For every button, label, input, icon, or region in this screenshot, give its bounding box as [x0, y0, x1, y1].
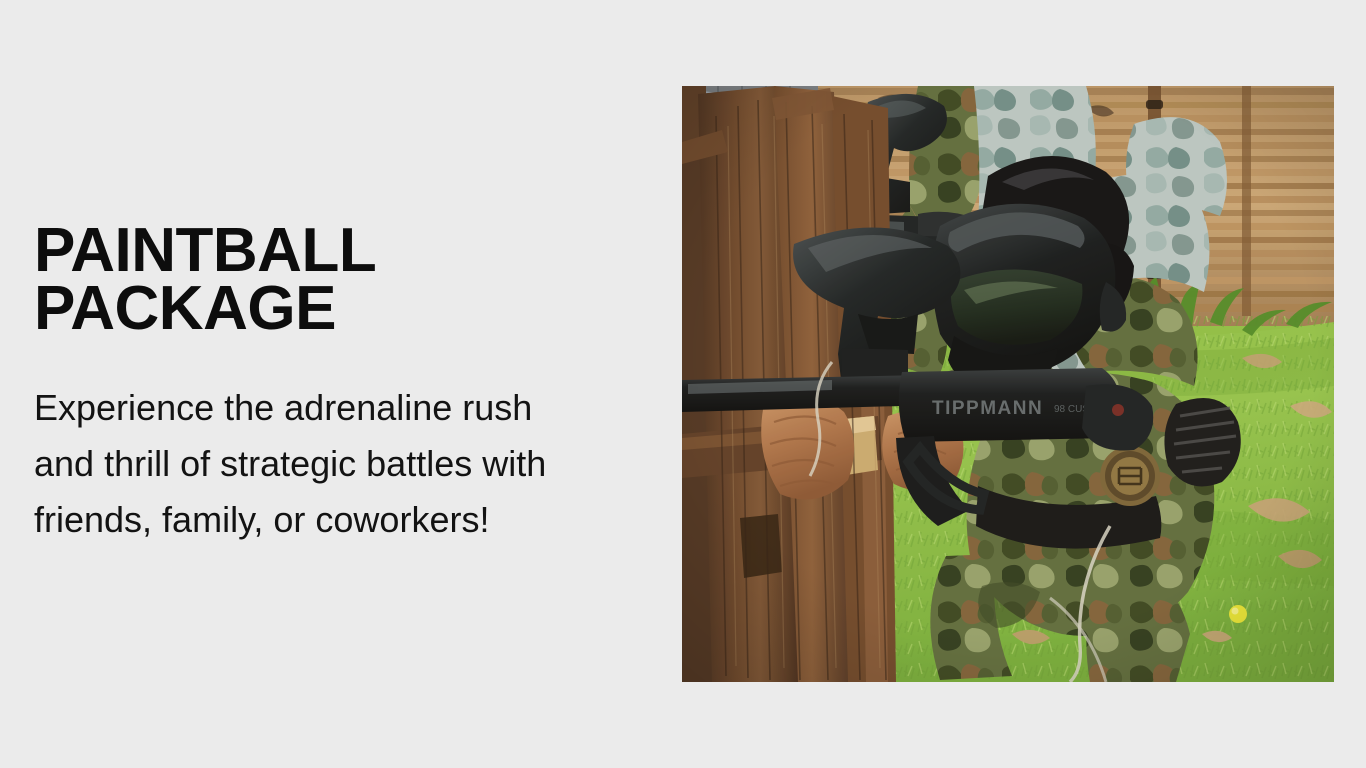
page-subtitle: Experience the adrenaline rush and thril…	[34, 338, 594, 548]
slide-canvas: PAINTBALL PACKAGE Experience the adrenal…	[0, 0, 1366, 768]
paintball-player-photo: TIPPMANN 98 CUSTOM	[682, 86, 1334, 682]
page-title: PAINTBALL PACKAGE	[34, 222, 634, 338]
text-block: PAINTBALL PACKAGE Experience the adrenal…	[34, 222, 634, 548]
photo-illustration: TIPPMANN 98 CUSTOM	[682, 86, 1334, 682]
